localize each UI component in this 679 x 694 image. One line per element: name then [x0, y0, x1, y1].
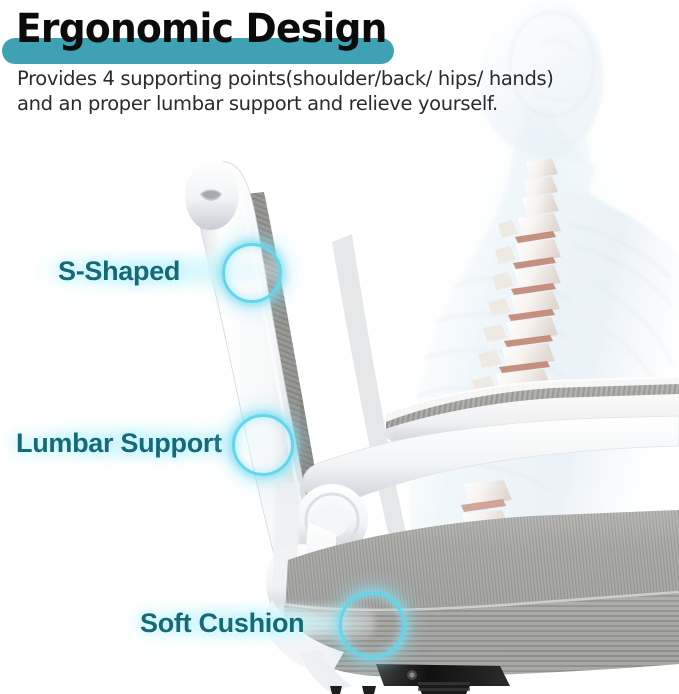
- callout-soft-cushion: Soft Cushion: [126, 597, 304, 649]
- annotation-ring-lumbar-support: [232, 414, 294, 476]
- header: Ergonomic Design Provides 4 supporting p…: [0, 0, 679, 130]
- subtitle: Provides 4 supporting points(shoulder/ba…: [17, 66, 597, 116]
- callout-label-s-shaped: S-Shaped: [58, 256, 180, 287]
- annotation-ring-soft-cushion: [339, 592, 405, 658]
- callout-label-soft-cushion: Soft Cushion: [140, 608, 304, 639]
- page-title: Ergonomic Design: [16, 6, 387, 52]
- callout-label-lumbar-support: Lumbar Support: [16, 428, 222, 459]
- callout-s-shaped: S-Shaped: [36, 245, 180, 297]
- infographic-page: Ergonomic Design Provides 4 supporting p…: [0, 0, 679, 694]
- callout-lumbar-support: Lumbar Support: [4, 417, 222, 469]
- subtitle-line-2: and an proper lumbar support and relieve…: [17, 91, 597, 116]
- subtitle-line-1: Provides 4 supporting points(shoulder/ba…: [17, 66, 597, 91]
- annotation-ring-s-shaped: [222, 243, 282, 303]
